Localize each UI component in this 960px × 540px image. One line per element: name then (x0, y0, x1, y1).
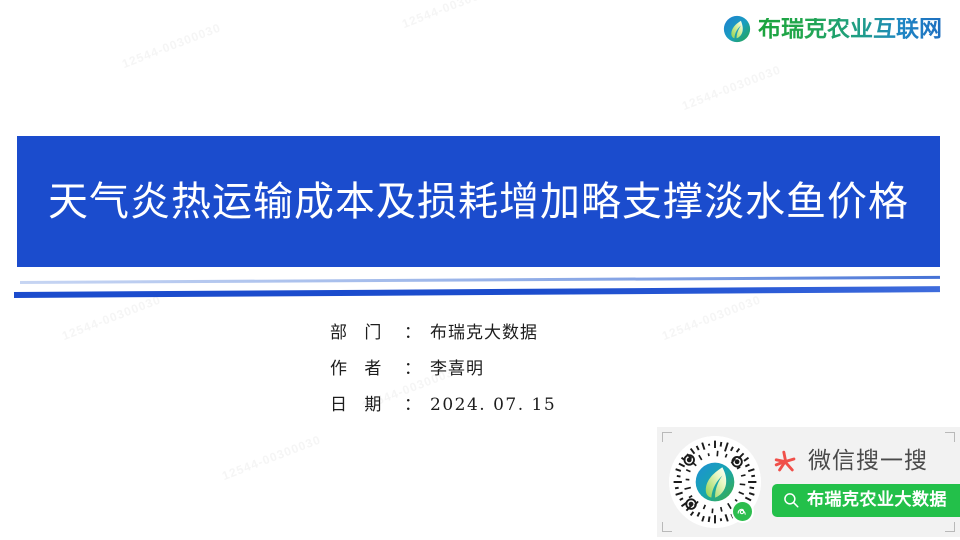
watermark-text: 12544-00300030 (660, 292, 763, 343)
wechat-search-pill[interactable]: 布瑞克农业大数据 (772, 484, 960, 517)
divider-rule-bold (14, 286, 940, 298)
slide-metadata: 部 门 ： 布瑞克大数据 作 者 ： 李喜明 日 期 ： 2024. 07. 1… (330, 318, 556, 426)
wechat-search-card[interactable]: 微信搜一搜 布瑞克农业大数据 (657, 427, 960, 537)
meta-value-date: 2024. 07. 15 (430, 395, 556, 415)
crop-mark-bottom-right (945, 522, 955, 532)
watermark-text: 12544-00300030 (120, 20, 223, 71)
meta-label-date: 日 期 (330, 390, 404, 415)
title-slide: 12544-00300030 12544-00300030 12544-0030… (0, 0, 960, 540)
watermark-text: 12544-00300030 (60, 292, 163, 343)
watermark-text: 12544-00300030 (680, 62, 783, 113)
meta-colon: ： (404, 390, 421, 415)
wechat-search-burst-icon (772, 448, 799, 475)
meta-label-author: 作 者 (330, 354, 404, 379)
wechat-card-content: 微信搜一搜 布瑞克农业大数据 (772, 448, 960, 517)
meta-row-date: 日 期 ： 2024. 07. 15 (330, 390, 556, 426)
crop-mark-top-right (945, 432, 955, 442)
title-band: 天气炎热运输成本及损耗增加略支撑淡水鱼价格 (17, 136, 940, 267)
brand-wordmark: 布瑞克农业互联网 (758, 18, 942, 41)
meta-value-department: 布瑞克大数据 (430, 318, 538, 343)
watermark-text: 12544-00300030 (400, 0, 503, 31)
wechat-search-keyword: 布瑞克农业大数据 (807, 492, 947, 509)
meta-row-department: 部 门 ： 布瑞克大数据 (330, 318, 556, 354)
leaf-circle-icon (723, 15, 751, 43)
meta-row-author: 作 者 ： 李喜明 (330, 354, 556, 390)
divider-rule-light (20, 276, 940, 284)
meta-label-department: 部 门 (330, 318, 404, 343)
wechat-search-brand: 微信搜一搜 (772, 448, 960, 475)
meta-colon: ： (404, 318, 421, 343)
meta-colon: ： (404, 354, 421, 379)
meta-value-author: 李喜明 (430, 354, 484, 379)
wechat-miniprogram-badge-icon (733, 502, 752, 521)
watermark-text: 12544-00300030 (220, 432, 323, 483)
magnifier-icon (782, 491, 800, 509)
wechat-search-label: 微信搜一搜 (808, 450, 928, 473)
slide-title: 天气炎热运输成本及损耗增加略支撑淡水鱼价格 (42, 179, 915, 225)
brand-logo: 布瑞克农业互联网 (723, 11, 942, 47)
wechat-miniprogram-qr-icon[interactable] (669, 436, 761, 528)
